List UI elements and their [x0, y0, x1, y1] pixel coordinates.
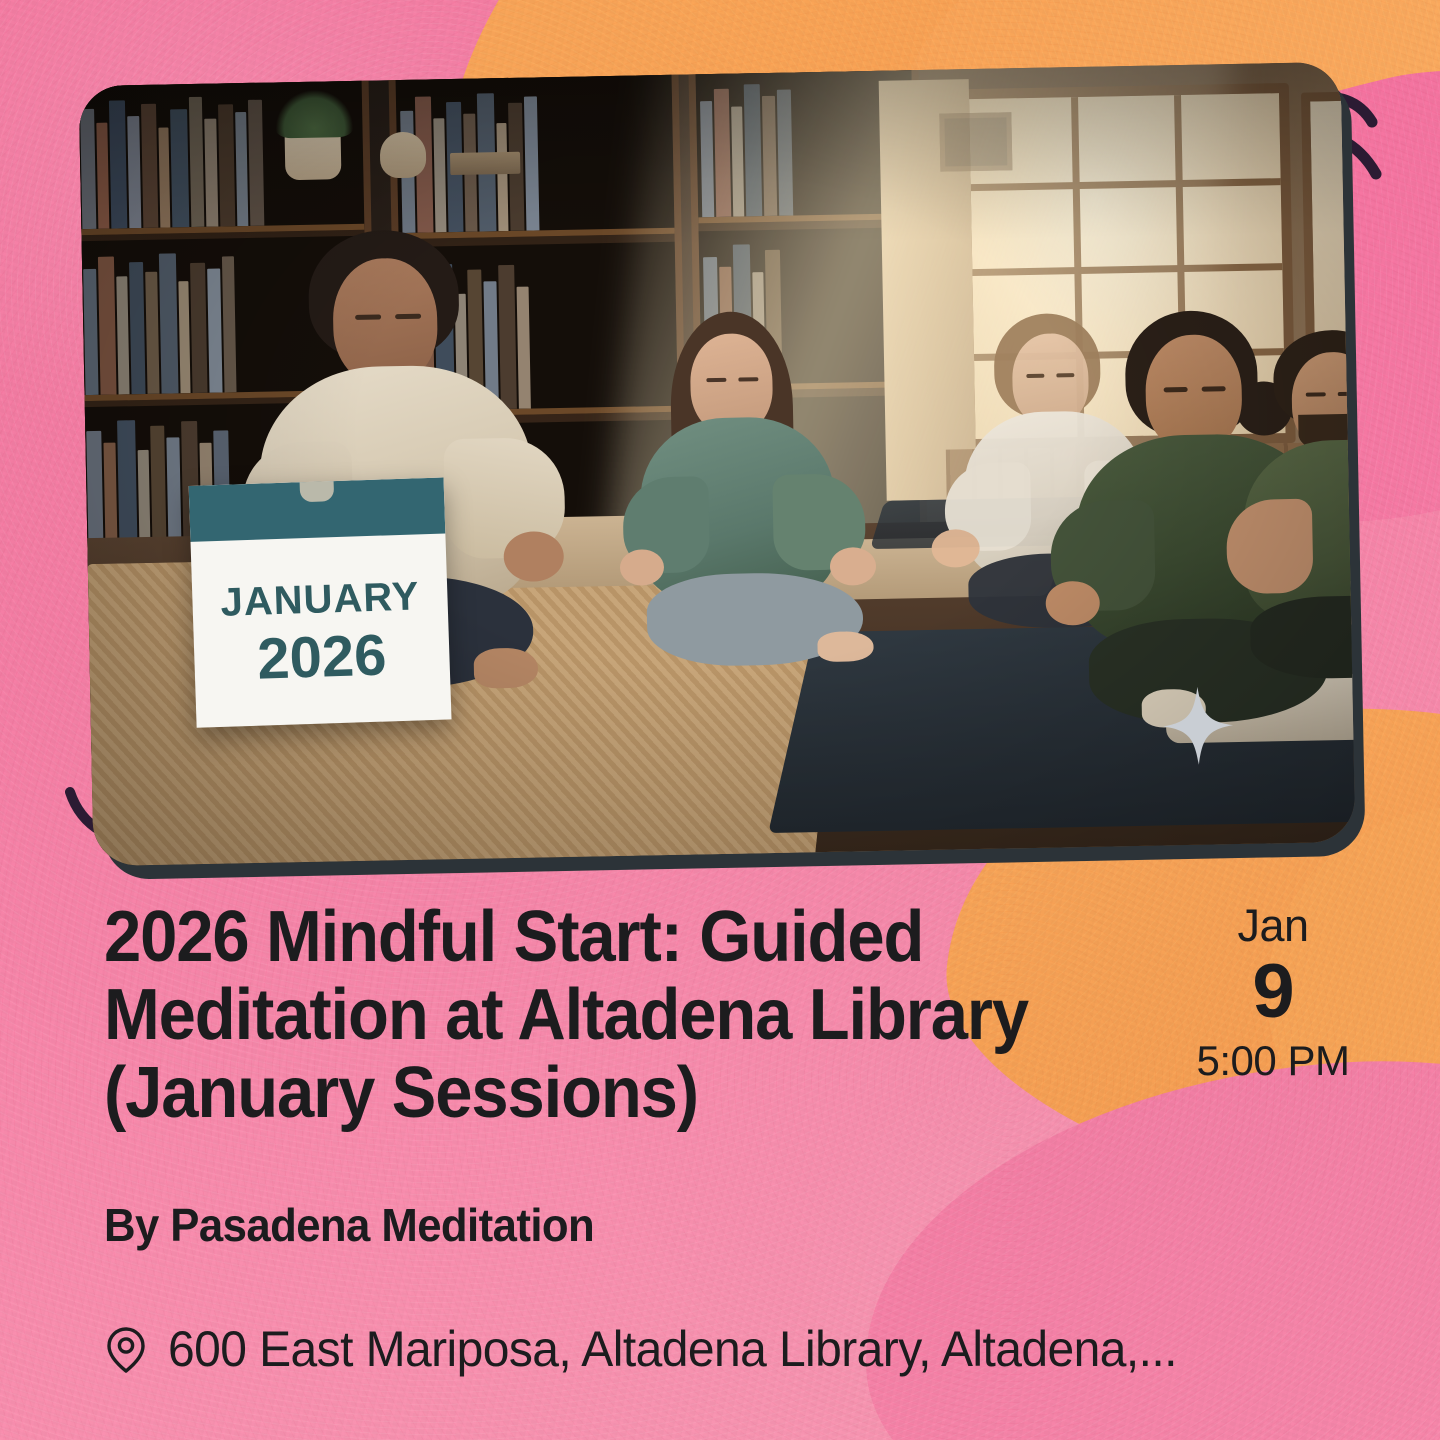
calendar-sign-overlay: JANUARY 2026 — [189, 477, 452, 727]
photo-plant-pot — [285, 131, 342, 180]
photo-person-2 — [623, 308, 911, 713]
event-details: 2026 Mindful Start: Guided Meditation at… — [0, 880, 1440, 1440]
calendar-sign-month: JANUARY — [192, 573, 448, 626]
event-date-month: Jan — [1158, 902, 1388, 949]
sparkle-icon — [1162, 686, 1233, 765]
event-organizer-byline[interactable]: By Pasadena Meditation — [104, 1198, 594, 1252]
event-location-text: 600 East Mariposa, Altadena Library, Alt… — [168, 1320, 1177, 1378]
event-poster: JANUARY 2026 2026 Mindful Start: Guided … — [0, 0, 1440, 1440]
photo-wall-picture — [939, 112, 1012, 171]
photo-ceramic-vase — [380, 132, 427, 179]
event-date-block: Jan 9 5:00 PM — [1158, 902, 1388, 1085]
event-date-day: 9 — [1158, 949, 1388, 1034]
photo-plant-leaves — [275, 89, 354, 138]
event-photo-card[interactable]: JANUARY 2026 — [79, 62, 1356, 866]
photo-person-5 — [1239, 328, 1356, 692]
calendar-sign-year: 2026 — [193, 619, 450, 694]
photo-shelf-books-stack — [450, 152, 520, 175]
event-photo[interactable]: JANUARY 2026 — [79, 62, 1356, 866]
event-date-time: 5:00 PM — [1158, 1038, 1388, 1084]
event-location-row[interactable]: 600 East Mariposa, Altadena Library, Alt… — [104, 1320, 1400, 1378]
location-pin-icon — [104, 1325, 148, 1373]
event-title: 2026 Mindful Start: Guided Meditation at… — [104, 898, 1034, 1132]
calendar-sign-notch — [299, 481, 334, 502]
